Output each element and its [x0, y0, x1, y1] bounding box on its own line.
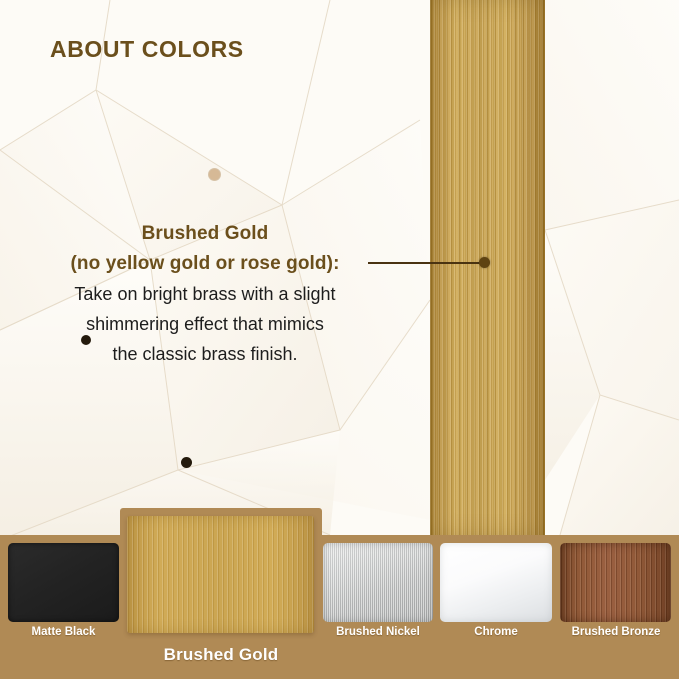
- callout-line-2: (no yellow gold or rose gold):: [36, 249, 374, 279]
- callout-leader-line: [368, 262, 486, 264]
- swatch-label-chrome: Chrome: [438, 626, 554, 638]
- swatch-label-matte-black: Matte Black: [6, 626, 121, 638]
- swatch-label-brushed-gold: Brushed Gold: [120, 645, 322, 665]
- swatch-label-brushed-nickel: Brushed Nickel: [318, 626, 438, 638]
- about-colors-infographic: ABOUT COLORS Brushed Gold (no yellow gol…: [0, 0, 679, 679]
- swatch-brushed-gold[interactable]: [127, 516, 314, 633]
- brushed-gold-bar-graphic: [430, 0, 545, 536]
- swatch-label-brushed-bronze: Brushed Bronze: [556, 626, 676, 638]
- callout-leader-endpoint-dot: [479, 257, 490, 268]
- decorative-dot-dark-bottom: [181, 457, 192, 468]
- page-title: ABOUT COLORS: [50, 36, 244, 63]
- swatch-brushed-nickel[interactable]: [323, 543, 433, 622]
- swatch-chrome[interactable]: [440, 543, 552, 622]
- decorative-dot-dark-left: [81, 335, 91, 345]
- decorative-dot-tan: [209, 169, 220, 180]
- callout-text-block: Brushed Gold (no yellow gold or rose gol…: [36, 219, 374, 369]
- callout-line-1: Brushed Gold: [36, 219, 374, 249]
- callout-line-3: Take on bright brass with a slight: [36, 279, 374, 309]
- swatch-matte-black[interactable]: [8, 543, 119, 622]
- swatch-brushed-bronze[interactable]: [560, 543, 671, 622]
